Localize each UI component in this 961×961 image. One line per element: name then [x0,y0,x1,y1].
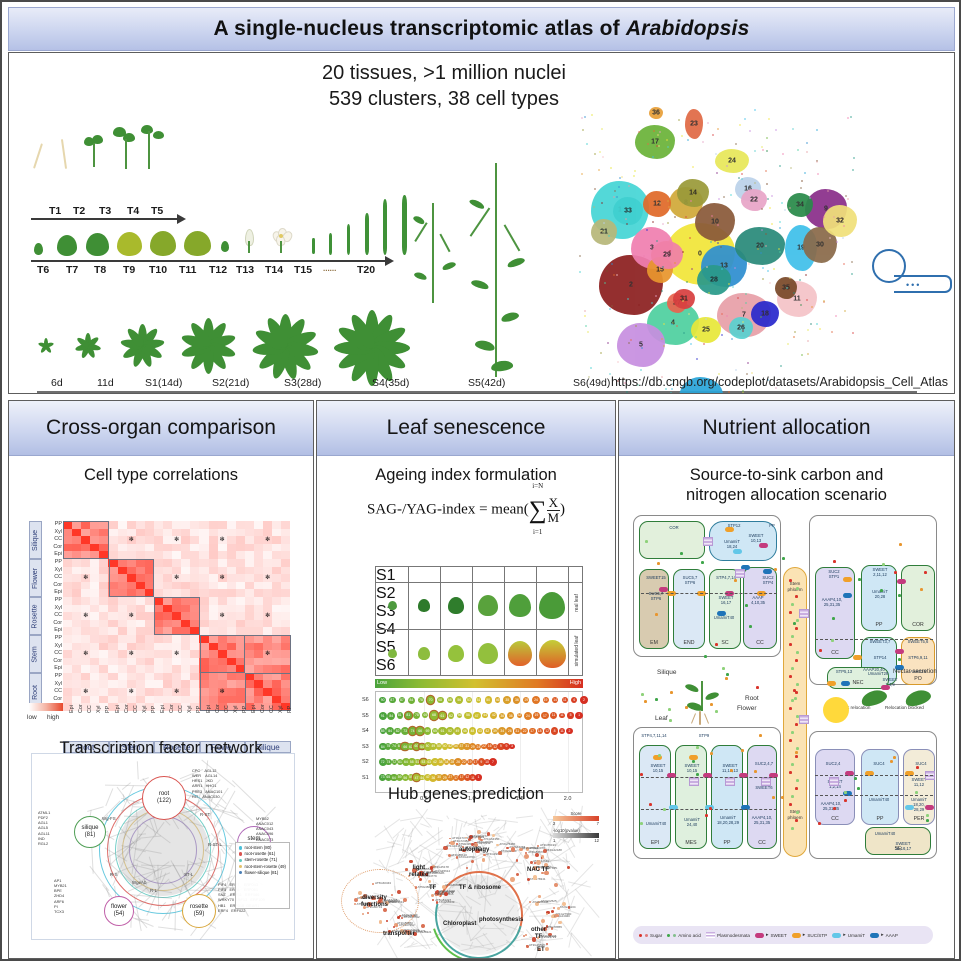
heatmap-row-group-label: Flower [32,567,39,588]
umap-cluster[interactable]: 36 [649,107,663,119]
umap-cluster[interactable]: 25 [691,317,721,343]
heatmap-block-outline [200,635,291,711]
heatmap-cell [272,597,281,605]
umap-cluster[interactable]: 33 [613,197,643,225]
heatmap-cell [118,612,127,620]
heatmap-cell [72,582,81,590]
heatmap-cell [245,521,254,529]
heatmap-cell [263,582,272,590]
heatmap-cell [199,620,208,628]
heatmap-cell [108,696,117,704]
umap-cluster[interactable]: 32 [823,205,857,237]
umap-point [702,141,704,143]
umap-point [674,262,676,264]
umap-point [695,336,697,338]
heatmap-cell [199,582,208,590]
nutrient-legend-item: ▸AAAP [870,932,898,938]
sugar-particle [774,568,777,571]
sugar-particle [795,787,798,790]
amino-acid-particle [704,655,707,658]
panel-cross-organ-comparison: Cross-organ comparison Cell type correla… [8,400,314,959]
umap-cluster[interactable]: 12 [643,191,671,217]
umap-point [611,305,613,307]
heatmap-cell [81,658,90,666]
sugar-particle [890,760,893,763]
dotplot-dot: 34 [498,727,506,735]
transporter-label: UmamiT40 [869,831,901,836]
hubnet-node [568,906,571,909]
network-arc-label: R-ST [200,812,210,817]
umap-point [793,292,795,294]
umap-point [769,207,771,209]
heatmap-cell [254,521,263,529]
heatmap-cell [118,605,127,613]
hubnet-node-label: AT5G60343 [375,881,391,885]
panel-leaf-senescence: Leaf senescence Ageing index formulation… [316,400,616,959]
hubnet-edge [431,940,437,946]
umap-point [603,222,605,224]
compartment-label: CC [744,640,776,646]
umap-point [810,323,812,325]
heatmap-cell: ✻ [218,536,227,544]
cell-type-correlation-heatmap[interactable]: ✻✻✻✻✻✻✻✻✻✻✻✻✻✻✻✻✻✻✻✻SiliquePPXylCCCorEpi… [27,517,295,729]
rosette-s3 [247,309,323,385]
dotplot-dot: 7 [489,758,497,766]
umap-point [737,297,739,299]
heatmap-cell [181,635,190,643]
heatmap-cell [236,612,245,620]
dotplot-dot: 56 [457,713,463,719]
heatmap-cell [127,627,136,635]
amino-acid-particle [794,697,797,700]
heatmap-row-label: Epi [44,551,62,557]
hubnet-edge [436,849,460,850]
hubnet-node-label: AT5G67252 [399,923,415,927]
transporter-label: UmamiT 24,40 [675,817,709,827]
heatmap-col-label: Cor [78,704,84,713]
umap-cluster[interactable]: 28 [697,265,731,295]
heatmap-cell [163,635,172,643]
umap-point [706,266,708,268]
heatmap-cell [72,605,81,613]
hub-gene-network[interactable]: AT1G53132AT3G17376AT2G61265AT4G39938AT4G… [331,809,601,957]
transcription-factor-network[interactable]: root(122)stem(48)rosette(59)flower(54)si… [31,753,295,940]
umap-point [847,198,849,200]
umap-point [800,304,802,306]
heatmap-cell [118,544,127,552]
heatmap-cell [145,521,154,529]
heatmap-cell [72,650,81,658]
sugar-particle [789,803,792,806]
heatmap-cell [90,597,99,605]
dotplot-dot: 47 [473,712,481,720]
umap-plot[interactable]: 0123456789101112131415161718192021222324… [569,105,869,394]
heatmap-cell: ✻ [172,688,181,696]
heatmap-cell [272,521,281,529]
ageing-index-formula: SAG-/YAG-index = mean( i=N ∑ i=1 X M ) [317,496,615,524]
amino-acid-particle [669,719,672,722]
heatmap-cell [163,582,172,590]
transporter-label: UmamiT40 [639,821,673,826]
heatmap-cell [72,673,81,681]
hubnet-node [391,894,393,896]
heatmap-cell [99,620,108,628]
umap-point [584,116,586,118]
heatmap-cell [254,529,263,537]
umap-point [609,308,611,310]
heatmap-cell [245,551,254,559]
sun-icon [823,697,849,723]
amino-acid-particle [844,791,847,794]
hubnet-node [537,845,539,847]
heatmap-cell: ✻ [218,612,227,620]
umap-point [742,321,744,323]
heatmap-cell [190,521,199,529]
hubnet-node-label: AT3G55193 [540,843,556,847]
umap-cluster[interactable]: 18 [751,301,779,327]
heatmap-cell [236,544,245,552]
umap-point [852,332,854,334]
umap-point [663,323,665,325]
heatmap-cell [99,605,108,613]
heatmap-cell [245,612,254,620]
umap-point [602,156,604,158]
plasmodesmata-icon [761,777,771,786]
dataset-url[interactable]: https://db.cngb.org/codeplot/datasets/Ar… [611,375,948,389]
umap-cluster[interactable]: 20 [735,227,785,265]
heatmap-cell [199,605,208,613]
heatmap-cell: ✻ [263,574,272,582]
heatmap-cell [254,620,263,628]
heatmap-cell [108,551,117,559]
heatmap-cell [254,612,263,620]
pvalue-max: 12 [594,838,599,843]
heatmap-cell [181,643,190,651]
umap-cluster[interactable]: 26 [729,317,753,339]
compartment-label: EM [640,640,668,646]
hubnet-cluster-label: ET [537,947,545,954]
network-hub[interactable]: rosette(59) [182,894,216,928]
amino-acid-particle [641,693,644,696]
dotplot-dot: 78 [418,697,424,703]
heatmap-cell [136,544,145,552]
heatmap-cell [154,589,163,597]
umap-cluster[interactable]: 24 [715,149,749,173]
umap-cluster[interactable]: 5 [617,323,665,367]
heatmap-cell [254,567,263,575]
sugar-particle [795,659,798,662]
panel1-header: Cross-organ comparison [9,401,313,456]
amino-acid-particle [680,552,683,555]
hubnet-node-label: AT2G15322 [522,846,538,850]
dotplot-dot: 65 [432,728,438,734]
transporter-label: SUC2,4,7 [747,761,781,766]
amino-acid-particle [749,625,752,628]
heatmap-cell [63,612,72,620]
amino-acid-particle [791,827,794,830]
umap-point [601,128,603,130]
amino-acid-particle [796,683,799,686]
heatmap-cell [99,688,108,696]
umap-point [582,129,584,131]
umap-point [584,315,586,317]
umap-point [789,207,791,209]
heatmap-cell [63,620,72,628]
dotplot-dot: 49 [454,727,462,735]
umap-point [585,325,587,327]
dotplot-dot: 46 [462,728,468,734]
gradient-high-label: High [570,680,581,686]
heatmap-cell [136,536,145,544]
heatmap-cell [99,643,108,651]
heatmap-cell [108,673,117,681]
heatmap-col-label: Epi [251,705,257,713]
heatmap-cell [163,658,172,666]
heatmap-cell [190,688,199,696]
umap-point [771,223,773,225]
transporter-label: STP9 [687,733,721,738]
heatmap-cell [281,529,290,537]
umap-point [681,135,683,137]
amino-acid-particle [796,587,799,590]
heatmap-cell [227,627,236,635]
hubnet-node [471,843,474,846]
heatmap-cell [63,559,72,567]
nutrient-allocation-diagram[interactable]: Stem phloemStem phloemEMENDSCCCCORSTP12P… [629,509,944,907]
umap-point [792,128,794,130]
heatmap-cell [190,665,199,673]
heatmap-cell [227,605,236,613]
heatmap-cell [145,665,154,673]
umap-point [682,251,684,253]
transporter-label: STP4,7,11,14 [637,733,671,738]
heatmap-cell [218,597,227,605]
network-hub[interactable]: flower(54) [104,896,134,926]
heatmap-cell [145,680,154,688]
heatmap-cell [108,544,117,552]
umap-point [641,347,643,349]
heatmap-cell [172,582,181,590]
heatmap-cell [108,620,117,628]
heatmap-cell [72,620,81,628]
amino-acid-particle [658,754,661,757]
sugar-particle [789,739,792,742]
heatmap-cell [145,643,154,651]
network-hub[interactable]: root(122) [142,776,186,820]
heatmap-cell: ✻ [172,574,181,582]
heatmap-cell [72,696,81,704]
real-leaf-art [448,597,464,614]
sugar-particle [789,579,792,582]
umap-point [767,270,769,272]
heatmap-cell [154,559,163,567]
umap-point [781,202,783,204]
heatmap-row-label: Cor [44,582,62,588]
dotplot-dot: 50 [485,696,492,703]
hubnet-edge [426,818,443,821]
hubnet-node [558,921,562,925]
dotplot-dot: 19 [543,697,549,703]
transporter-pill [841,681,850,686]
umap-cluster[interactable]: 10 [695,203,735,241]
transporter-label: SWEET 10,15 [641,763,675,773]
heatmap-cell [118,665,127,673]
dotplot-dot: 85 [380,728,386,734]
heatmap-cell [245,627,254,635]
dotplot-dot: 81 [397,712,403,718]
panel3-subtitle-line2: nitrogen allocation scenario [619,485,954,505]
umap-point [779,251,781,253]
heatmap-cell [172,635,181,643]
transporter-label: UmamiT 18,20,28,29 [711,815,745,825]
transporter-pill [763,569,772,574]
dotplot-dot: 91 [379,712,387,720]
heatmap-cell [72,627,81,635]
network-hub-count: (81) [85,832,96,839]
umap-point [747,362,749,364]
dotplot-dot: 1 [575,712,583,720]
umap-point [811,306,813,308]
hubnet-node-label: AT4G72382 [453,839,469,843]
umap-point [754,182,756,184]
heatmap-cell [172,680,181,688]
network-legend-label: root-stem-rosette (49) [244,864,286,869]
umap-cluster[interactable]: 31 [673,289,695,309]
sugar-particle [649,803,652,806]
umap-point [775,129,777,131]
heatmap-cell [181,696,190,704]
umap-cluster[interactable]: 22 [741,189,767,211]
umap-point [711,215,713,217]
compartment-cor: COR [901,565,935,631]
dotplot-y-tick: S5 [362,713,369,719]
umap-point [579,255,581,257]
heatmap-cell [209,620,218,628]
heatmap-cell [209,559,218,567]
heatmap-cell [172,696,181,704]
umap-point [844,310,846,312]
heatmap-cell [145,544,154,552]
heatmap-cell [263,605,272,613]
heatmap-cell [72,643,81,651]
heatmap-cell [281,605,290,613]
amino-acid-particle [791,731,794,734]
heatmap-cell [190,582,199,590]
heatmap-cell [218,544,227,552]
sugar-particle [795,595,798,598]
heatmap-cell [190,680,199,688]
compartment-label: PER [904,816,934,822]
heatmap-cell [154,665,163,673]
dotplot-dot: 84 [408,697,415,704]
heatmap-cell [163,551,172,559]
heatmap-col-label: CC [269,705,275,713]
heatmap-row-label: PP [44,559,62,565]
nutrient-legend-item: Sugar [639,933,662,938]
umap-cluster[interactable]: 17 [635,125,675,159]
umap-point [768,118,770,120]
umap-point [646,229,648,231]
simulated-leaf-art [388,649,397,658]
transporter-pill [905,805,914,810]
umap-cluster[interactable]: 29 [651,241,683,269]
plasmodesmata-icon [689,777,699,786]
heatmap-row-label: Xyl [44,605,62,611]
heatmap-cell [236,620,245,628]
umap-point [625,218,627,220]
heatmap-col-label: Cor [215,704,221,713]
dotplot-y-tick: S6 [362,697,369,703]
umap-cluster-label: 2 [629,282,633,289]
heatmap-cell [163,536,172,544]
heatmap-cell [190,567,199,575]
stage-11d: 11d [97,377,114,389]
umap-point [594,188,596,190]
ageing-index-dotplot[interactable]: 0.51.01.52.0S690878784787068685653515046… [375,691,583,793]
heatmap-cell [199,627,208,635]
heatmap-cell [281,551,290,559]
heatmap-cell [218,582,227,590]
heatmap-cell [118,551,127,559]
heatmap-cell [254,589,263,597]
umap-cluster-label: 33 [624,208,632,215]
umap-cluster[interactable]: 14 [677,179,709,207]
dotplot-dot: 14 [552,697,558,703]
hubnet-node [372,883,374,885]
hubnet-node [541,919,545,923]
heatmap-cell [218,605,227,613]
heatmap-cell [99,658,108,666]
heatmap-row-label: PP [44,635,62,641]
umap-cluster[interactable]: 23 [685,109,703,139]
heatmap-cell [118,673,127,681]
umap-point [653,130,655,132]
umap-point [591,114,593,116]
heatmap-cell [136,665,145,673]
heatmap-cell [190,529,199,537]
heatmap-cell [172,589,181,597]
umap-cluster-label: 36 [652,110,660,117]
heatmap-cell [190,544,199,552]
heatmap-row-group: Flower [29,559,42,597]
dotplot-dot: 19 [533,712,540,719]
heatmap-cell [136,673,145,681]
dotplot-dot: 51 [476,697,482,703]
heatmap-cell [154,688,163,696]
heatmap-cell [63,696,72,704]
heatmap-cell [99,680,108,688]
heatmap-row-label: Xyl [44,567,62,573]
hubnet-score-legend: Score27-log10(pvalue)112 [553,811,599,843]
heatmap-cell [81,635,90,643]
dotplot-dot: 73 [401,727,409,735]
umap-point [773,268,775,270]
heatmap-cell [181,658,190,666]
umap-point [703,343,705,345]
heatmap-row-group-label: Silique [32,529,39,550]
hubnet-cluster-label: diversity functions [361,895,388,909]
heatmap-cell [172,551,181,559]
heatmap-cell [227,544,236,552]
umap-point [714,240,716,242]
dotplot-dot: 1 [475,774,481,780]
umap-point [581,173,583,175]
heatmap-cell [199,589,208,597]
transporter-label: SUC5,7 STP6 [675,575,705,585]
heatmap-row-label: Cor [44,544,62,550]
umap-cluster-label: 22 [750,197,758,204]
heatmap-cell [263,589,272,597]
